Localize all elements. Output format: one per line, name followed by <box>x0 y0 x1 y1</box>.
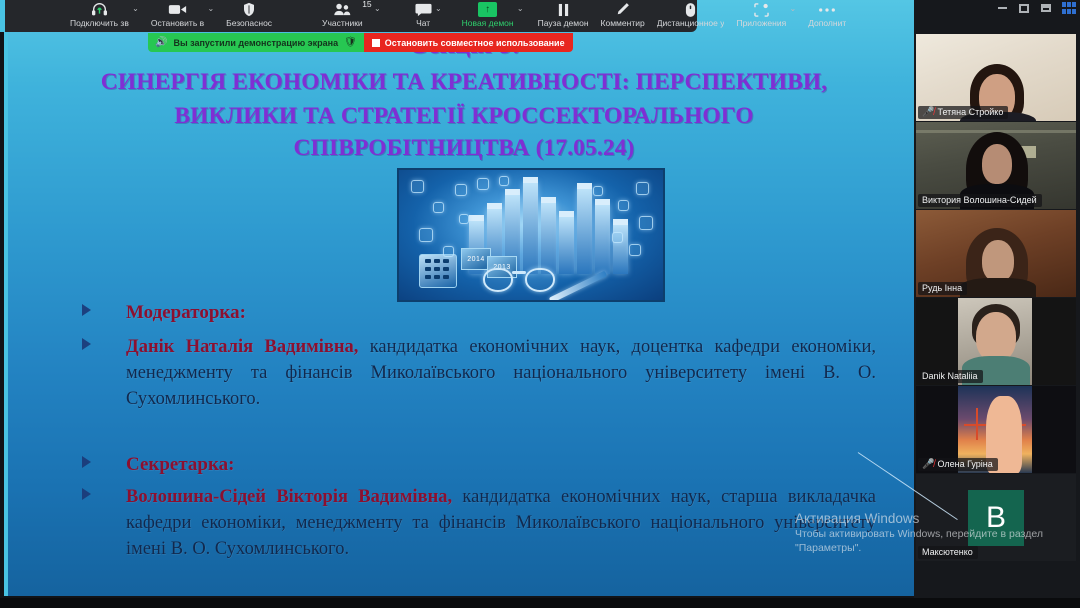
participants-video-panel: 🎤̸ Тетяна Стройко Виктория Волошина-Сиде… <box>914 0 1080 608</box>
participant-name: Danik Nataliia <box>922 371 978 381</box>
toolbar-audio-button[interactable]: Подключить зв ⌄ <box>66 0 133 32</box>
screen-share-banner: 🔊 Вы запустили демонстрацию экрана 🛡 Ост… <box>148 33 573 52</box>
maximize-icon[interactable] <box>1018 3 1030 14</box>
toolbar-new-share-label: Новая демон <box>462 18 514 29</box>
video-tile[interactable]: Виктория Волошина-Сидей <box>916 122 1076 209</box>
toolbar-annotate-button[interactable]: Комментир <box>597 0 649 32</box>
grid-view-icon[interactable] <box>1062 2 1076 14</box>
stop-share-label: Остановить совместное использование <box>385 38 565 48</box>
minimize-icon[interactable] <box>996 3 1008 14</box>
chevron-down-icon[interactable]: ⌄ <box>435 4 442 13</box>
window-bottom-strip <box>0 598 1080 608</box>
participant-name: Рудь Інна <box>922 283 962 293</box>
share-screen-icon: ↑ <box>478 2 497 17</box>
pen-icon <box>549 271 607 302</box>
bullet-arrow-icon <box>82 338 91 350</box>
pause-icon <box>557 2 570 17</box>
toolbar-chat-label: Чат <box>416 18 430 29</box>
window-controls <box>996 0 1076 16</box>
zoom-meeting-toolbar: Подключить зв ⌄ Остановить в ⌄ Безопасно… <box>0 0 697 32</box>
bullet-label: Секретарка: <box>126 454 234 475</box>
slide-title-line-3: СПІВРОБІТНИЦТВА (17.05.24) <box>34 135 894 162</box>
video-tile[interactable]: 🎤̸ Олена Гуріна <box>916 386 1076 473</box>
share-status-chip: 🔊 Вы запустили демонстрацию экрана 🛡 <box>148 33 364 52</box>
chevron-down-icon[interactable]: ⌄ <box>132 4 139 13</box>
chevron-down-icon[interactable]: ⌄ <box>207 4 214 13</box>
toolbar-apps-button[interactable]: Приложения ⌄ <box>732 0 790 32</box>
toolbar-more-label: Дополнит <box>808 18 846 29</box>
toolbar-remote-control-button[interactable]: Дистанционное у <box>653 0 729 32</box>
video-tile-active-speaker[interactable]: Danik Nataliia <box>916 298 1076 385</box>
stop-share-button[interactable]: Остановить совместное использование <box>364 33 573 52</box>
participant-name: Тетяна Стройко <box>937 107 1003 117</box>
participant-name-chip: Danik Nataliia <box>918 370 983 384</box>
apps-icon <box>754 2 769 17</box>
share-shield-icon[interactable]: 🛡 <box>344 37 357 48</box>
participant-name-chip: 🎤̸ Тетяна Стройко <box>918 106 1008 120</box>
participant-name-chip: 🎤̸ Олена Гуріна <box>918 458 998 472</box>
participant-name-chip: Рудь Інна <box>918 282 967 296</box>
person-name: Волошина-Сідей Вікторія Вадимівна, <box>126 487 452 507</box>
participant-name-chip: Максютенко <box>918 546 978 560</box>
chevron-down-icon[interactable]: ⌄ <box>374 4 381 13</box>
avatar: В <box>968 490 1024 546</box>
toolbar-pause-share-label: Пауза демон <box>538 18 589 29</box>
shared-screen-slide: Секція 9. СИНЕРГІЯ ЕКОНОМІКИ ТА КРЕАТИВН… <box>4 0 914 596</box>
bullet-arrow-icon <box>82 488 91 500</box>
toolbar-video-label: Остановить в <box>151 18 204 29</box>
toolbar-video-button[interactable]: Остановить в ⌄ <box>147 0 208 32</box>
participants-icon <box>333 2 352 17</box>
restore-icon[interactable] <box>1040 3 1052 14</box>
glasses-icon <box>483 266 555 292</box>
participant-name: Максютенко <box>922 547 973 557</box>
share-status-label: Вы запустили демонстрацию экрана <box>173 38 338 48</box>
chevron-down-icon[interactable]: ⌄ <box>517 4 524 13</box>
video-tile-list: 🎤̸ Тетяна Стройко Виктория Волошина-Сиде… <box>915 34 1079 562</box>
participant-name-chip: Виктория Волошина-Сидей <box>918 194 1042 208</box>
participant-name: Виктория Волошина-Сидей <box>922 195 1037 205</box>
mic-muted-icon: 🎤̸ <box>922 460 934 469</box>
toolbar-participants-label: Участники <box>322 18 363 29</box>
mic-muted-icon: 🎤̸ <box>922 108 934 117</box>
zoom-meeting-window: Секція 9. СИНЕРГІЯ ЕКОНОМІКИ ТА КРЕАТИВН… <box>0 0 1080 608</box>
pencil-icon <box>615 2 630 17</box>
toolbar-security-button[interactable]: Безопаснос <box>222 0 276 32</box>
bullet-arrow-icon <box>82 456 91 468</box>
toolbar-new-share-button[interactable]: ↑ Новая демон ⌄ <box>458 0 518 32</box>
mouse-icon <box>685 2 696 17</box>
video-tile[interactable]: Рудь Інна <box>916 210 1076 297</box>
video-camera-icon <box>168 2 187 17</box>
chevron-down-icon[interactable]: ⌄ <box>790 4 797 13</box>
toolbar-audio-label: Подключить зв <box>70 18 129 29</box>
bullet-secretary-person: Волошина-Сідей Вікторія Вадимівна, канди… <box>82 484 876 562</box>
slide-illustration-image: 2014 2013 <box>397 168 665 302</box>
bullet-secretary-heading: Секретарка: <box>82 452 876 478</box>
calculator-icon <box>419 254 457 288</box>
person-name: Данік Наталія Вадимівна, <box>126 337 358 357</box>
toolbar-apps-label: Приложения <box>736 18 786 29</box>
video-tile[interactable]: 🎤̸ Тетяна Стройко <box>916 34 1076 121</box>
shield-icon <box>242 2 256 17</box>
video-tile-avatar[interactable]: В Максютенко <box>916 474 1076 561</box>
slide-title-line-2: ВИКЛИКИ ТА СТРАТЕГІЇ КРОССЕКТОРАЛЬНОГО <box>34 103 894 130</box>
toolbar-more-button[interactable]: Дополнит <box>804 0 850 32</box>
bullet-arrow-icon <box>82 304 91 316</box>
slide-title-line-1: СИНЕРГІЯ ЕКОНОМІКИ ТА КРЕАТИВНОСТІ: ПЕРС… <box>34 69 894 96</box>
toolbar-annotate-label: Комментир <box>601 18 645 29</box>
headset-icon <box>91 2 108 17</box>
stop-square-icon <box>372 39 380 47</box>
ellipsis-icon <box>818 2 836 17</box>
participant-name: Олена Гуріна <box>937 459 992 469</box>
toolbar-participants-button[interactable]: 15 Участники ⌄ <box>318 0 367 32</box>
bullet-moderator-person: Данік Наталія Вадимівна, кандидатка екон… <box>82 334 876 412</box>
bullet-moderator-heading: Модераторка: <box>82 300 876 326</box>
bullet-label: Модераторка: <box>126 302 246 323</box>
slide-left-edge <box>4 0 8 596</box>
toolbar-chat-button[interactable]: Чат ⌄ <box>411 0 436 32</box>
toolbar-remote-control-label: Дистанционное у <box>657 18 725 29</box>
participants-count: 15 <box>362 0 371 9</box>
chat-bubble-icon <box>415 2 432 17</box>
toolbar-security-label: Безопаснос <box>226 18 272 29</box>
toolbar-pause-share-button[interactable]: Пауза демон <box>534 0 593 32</box>
share-indicator-icon: 🔊 <box>155 37 167 48</box>
